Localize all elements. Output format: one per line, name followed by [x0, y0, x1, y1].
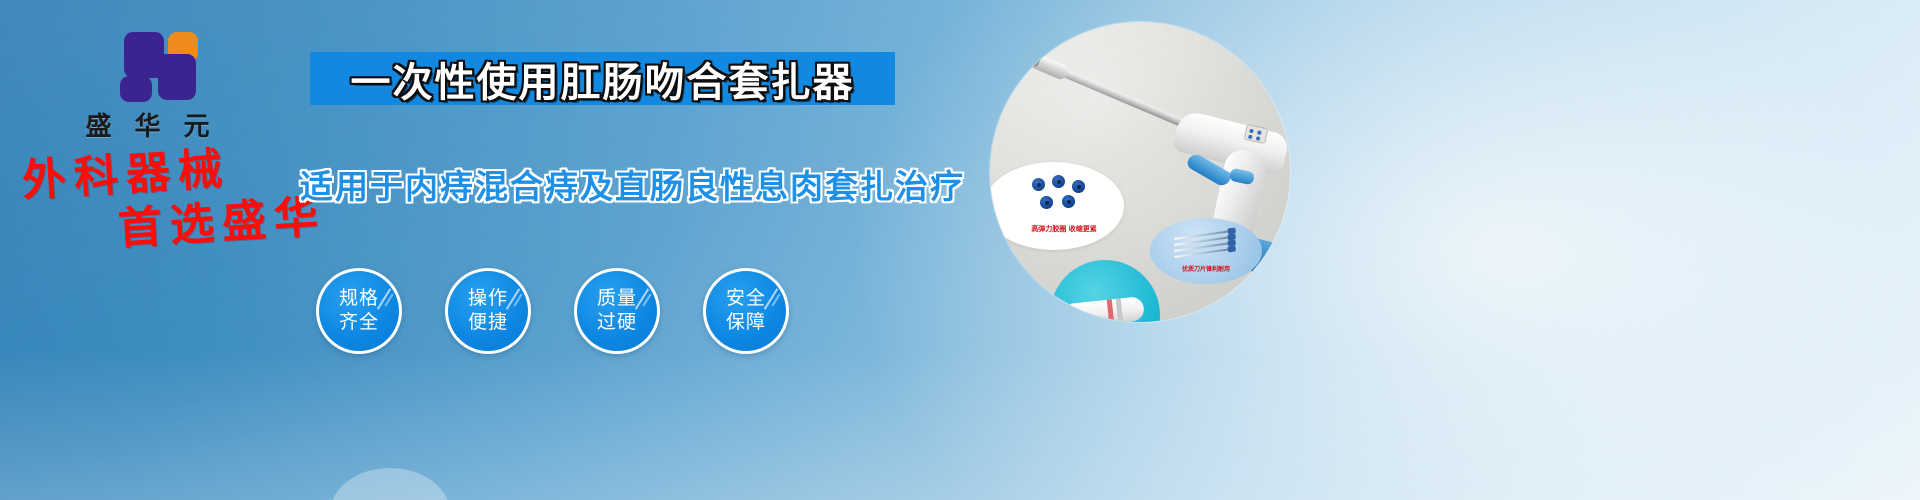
subtitle: 适用于内痔混合痔及直肠良性息肉套扎治疗 — [300, 160, 920, 208]
rubber-ring — [1040, 196, 1053, 209]
feature-badge-1[interactable]: 规格 齐全 — [316, 268, 402, 354]
logo-block-c — [158, 54, 196, 100]
logo-block-d — [120, 76, 152, 102]
badge-label-line-2: 齐全 — [339, 311, 379, 335]
feature-badge-2[interactable]: 操作 便捷 — [445, 268, 531, 354]
calligraphy-slogan: 外科器械 首选盛华 — [18, 150, 348, 246]
badge-label-line-1: 操作 — [468, 287, 508, 311]
decorative-blob — [330, 468, 450, 500]
feature-badge-4[interactable]: 安全 保障 — [703, 268, 789, 354]
product-photo[interactable]: 高弹力胶圈 收缩更紧 优质刀片锋利耐用 — [990, 22, 1290, 322]
panel-dot — [1256, 136, 1261, 141]
panel-dot — [1248, 135, 1253, 140]
page-title: 一次性使用肛肠吻合套扎器 — [351, 50, 855, 108]
cartridge — [1067, 296, 1145, 322]
rubber-ring — [1062, 195, 1075, 208]
brand-logo-block[interactable]: 盛 华 元 — [60, 26, 235, 143]
shenghuayuan-blocks-logo-icon — [102, 26, 194, 100]
badge-label-line-2: 便捷 — [468, 311, 508, 335]
needles-caption: 优质刀片锋利耐用 — [1156, 264, 1256, 273]
badge-label-line-1: 质量 — [597, 287, 637, 311]
cartridge-inset — [1050, 260, 1160, 322]
badge-label-line-2: 保障 — [726, 311, 766, 335]
panel-dot — [1257, 130, 1262, 135]
main-title-bar: 一次性使用肛肠吻合套扎器 — [310, 52, 895, 105]
feature-badge-3[interactable]: 质量 过硬 — [574, 268, 660, 354]
rubber-ring — [1072, 180, 1085, 193]
rubber-ring — [1052, 175, 1065, 188]
feature-badges: 规格 齐全 操作 便捷 质量 过硬 安全 保障 — [316, 268, 789, 354]
badge-label-line-2: 过硬 — [597, 311, 637, 335]
promo-banner: 盛 华 元 外科器械 首选盛华 一次性使用肛肠吻合套扎器 适用于内痔混合痔及直肠… — [0, 0, 1920, 500]
cartridge-nose — [1060, 310, 1073, 322]
background-sheen — [0, 0, 1920, 500]
cartridge-band — [1116, 298, 1123, 322]
needles-inset: 优质刀片锋利耐用 — [1150, 218, 1262, 284]
background-bottom-fade — [0, 350, 1920, 500]
rubber-rings-inset: 高弹力胶圈 收缩更紧 — [990, 162, 1124, 250]
rubber-rings-caption: 高弹力胶圈 收缩更紧 — [1006, 224, 1122, 234]
panel-dot — [1249, 129, 1254, 134]
badge-label-line-1: 规格 — [339, 287, 379, 311]
brand-name: 盛 华 元 — [60, 106, 235, 143]
rubber-ring — [1032, 178, 1045, 191]
badge-label-line-1: 安全 — [726, 287, 766, 311]
cartridge-band — [1107, 299, 1114, 322]
